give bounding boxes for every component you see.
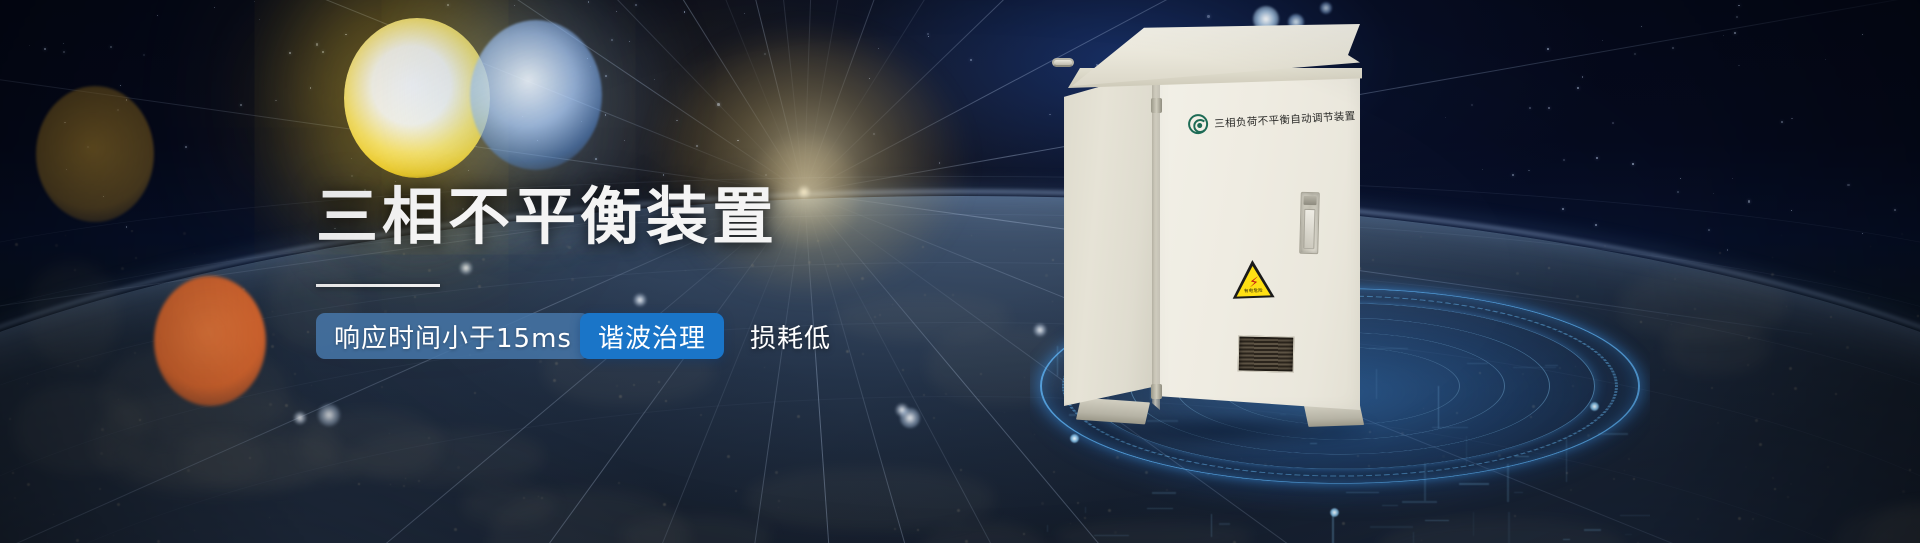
cabinet-foot-left: [1076, 398, 1150, 425]
feature-badge-response-time[interactable]: 响应时间小于15ms: [316, 313, 590, 359]
hero-banner: 三相负荷不平衡自动调节装置 ⚡ 有电危险 三相不平衡装置 响应时间小于15ms …: [0, 0, 1920, 543]
feature-badge-harmonic-control[interactable]: 谐波治理: [580, 313, 724, 359]
cabinet-vent-grille: [1238, 335, 1295, 372]
blue-orb: [470, 20, 602, 170]
high-voltage-warning-icon: ⚡ 有电危险: [1231, 259, 1274, 298]
blue-spark-icon-c: [1320, 2, 1332, 14]
feature-badge-list: 响应时间小于15ms 谐波治理 损耗低: [316, 313, 956, 359]
cabinet-door-seam: [1152, 64, 1160, 410]
feature-badge-low-loss[interactable]: 损耗低: [734, 313, 847, 359]
company-logo-icon: [1188, 114, 1209, 135]
yellow-white-orb: [344, 18, 490, 178]
amber-dim-orb: [36, 86, 154, 222]
hero-headline: 三相不平衡装置: [316, 186, 956, 248]
cabinet-side-panel: [1064, 70, 1158, 406]
cabinet-hinge-bottom: [1151, 384, 1162, 399]
headline-divider: [316, 284, 440, 287]
cabinet-hinge-top: [1151, 98, 1162, 113]
product-cabinet: 三相负荷不平衡自动调节装置 ⚡ 有电危险: [1060, 24, 1360, 424]
grid-node-icon-d: [900, 408, 920, 428]
orange-orb: [154, 276, 266, 406]
grid-node-icon-e: [318, 404, 340, 426]
hero-text-block: 三相不平衡装置 响应时间小于15ms 谐波治理 损耗低: [316, 186, 956, 359]
cabinet-side-handle-icon: [1052, 58, 1074, 67]
radiating-grid-lines: [0, 0, 1920, 543]
cabinet-door-handle[interactable]: [1299, 192, 1320, 254]
